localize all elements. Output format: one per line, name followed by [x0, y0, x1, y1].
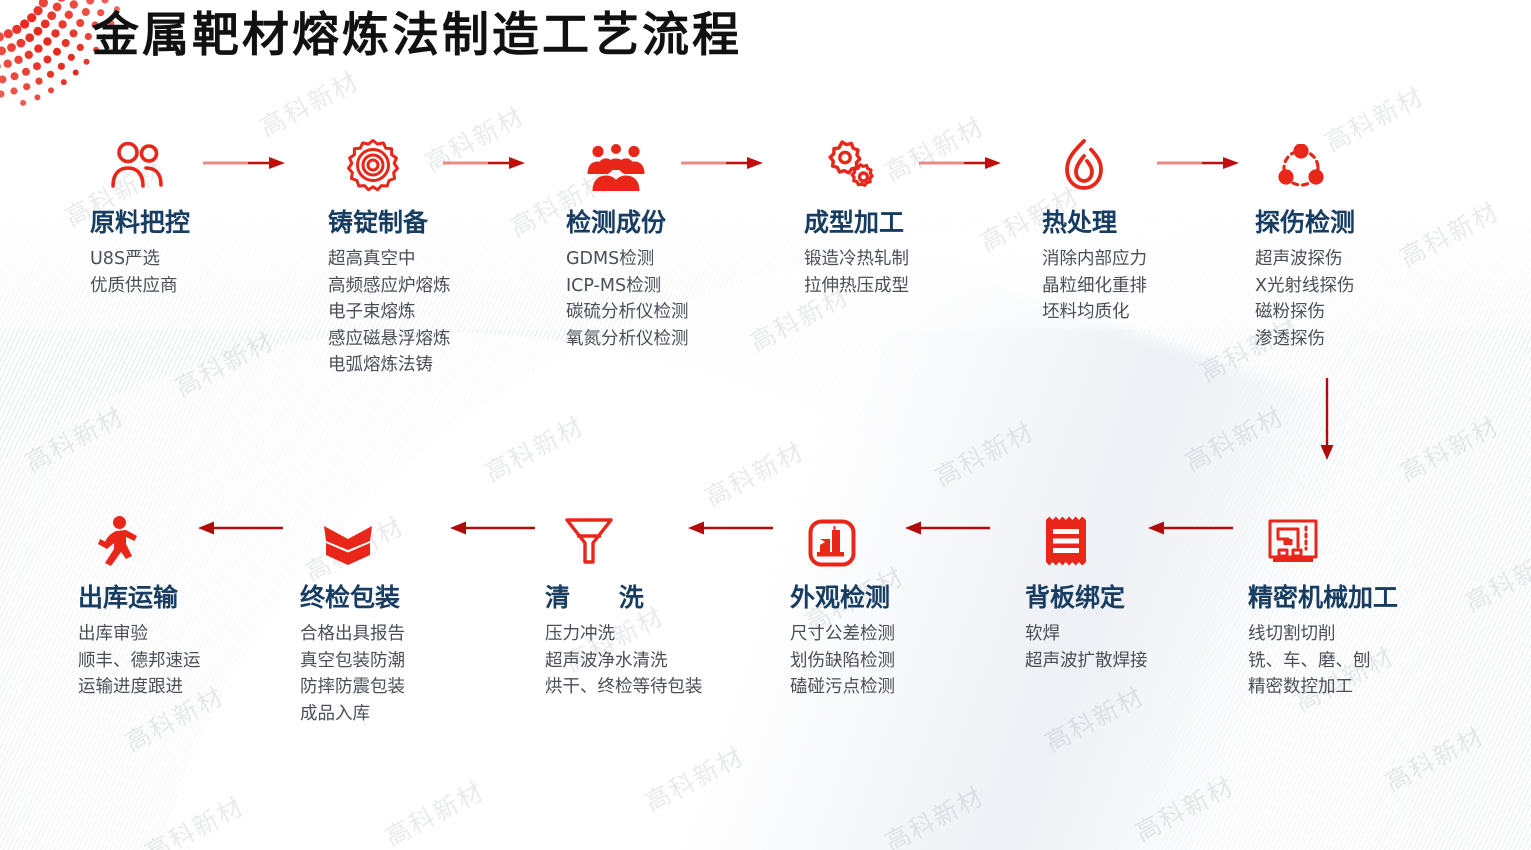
step-detail-line: 超高真空中 — [328, 246, 543, 273]
step-detail-line: 坯料均质化 — [1042, 299, 1257, 326]
step-detail-line: 电子束熔炼 — [328, 299, 543, 326]
step-detail-list: 合格出具报告真空包装防潮防摔防震包装成品入库 — [300, 621, 515, 727]
step-detail-line: ICP-MS检测 — [566, 273, 781, 300]
header: 金属靶材熔炼法制造工艺流程 — [92, 2, 742, 70]
step-detail-line: 超声波净水清洗 — [545, 648, 760, 675]
step-detail-line: X光射线探伤 — [1255, 273, 1470, 300]
step-detail-line: 运输进度跟进 — [78, 674, 293, 701]
step-title: 成型加工 — [804, 203, 1019, 239]
step-detail-line: 优质供应商 — [90, 273, 305, 300]
flow-arrow-left-2 — [450, 520, 535, 536]
step-detail-list: 尺寸公差检测划伤缺陷检测磕碰污点检测 — [790, 621, 1005, 701]
open-box-icon — [300, 505, 515, 567]
step-detail-line: 磁粉探伤 — [1255, 299, 1470, 326]
step-detail-line: 超声波扩散焊接 — [1025, 648, 1240, 675]
step-title: 铸锭制备 — [328, 203, 543, 239]
cnc-machine-icon — [1248, 505, 1498, 567]
step-detail-list: 锻造冷热轧制拉伸热压成型 — [804, 246, 1019, 299]
step-detail-list: 出库审验顺丰、德邦速运运输进度跟进 — [78, 621, 293, 701]
step-title: 原料把控 — [90, 203, 305, 239]
step-detail-line: 尺寸公差检测 — [790, 621, 1005, 648]
step-detail-list: 压力冲洗超声波净水清洗烘干、终检等待包装 — [545, 621, 760, 701]
step-title: 背板绑定 — [1025, 578, 1240, 614]
step-detail-line: 线切割切削 — [1248, 621, 1498, 648]
step-title: 清 洗 — [545, 578, 760, 614]
flow-arrow-right-1 — [203, 155, 285, 171]
step-detail-line: 顺丰、德邦速运 — [78, 648, 293, 675]
step-detail-line: GDMS检测 — [566, 246, 781, 273]
flow-arrow-left-5 — [1148, 520, 1233, 536]
step-detail-line: 合格出具报告 — [300, 621, 515, 648]
step-detail-list: U8S严选优质供应商 — [90, 246, 305, 299]
step-title: 检测成份 — [566, 203, 781, 239]
flow-arrow-right-2 — [443, 155, 525, 171]
step-detail-line: 软焊 — [1025, 621, 1240, 648]
step-detail-line: 真空包装防潮 — [300, 648, 515, 675]
funnel-icon — [545, 505, 760, 567]
step-detail-line: 高频感应炉熔炼 — [328, 273, 543, 300]
step-detail-line: 压力冲洗 — [545, 621, 760, 648]
step-detail-list: 线切割切削铣、车、磨、刨精密数控加工 — [1248, 621, 1498, 701]
step-detail-line: 成品入库 — [300, 701, 515, 728]
factory-inspect-icon — [790, 505, 1005, 567]
step-detail-line: 精密数控加工 — [1248, 674, 1498, 701]
process-step-11: 终检包装合格出具报告真空包装防潮防摔防震包装成品入库 — [300, 505, 515, 727]
step-detail-list: 消除内部应力晶粒细化重排坯料均质化 — [1042, 246, 1257, 326]
step-title: 出库运输 — [78, 578, 293, 614]
step-detail-line: 锻造冷热轧制 — [804, 246, 1019, 273]
step-title: 热处理 — [1042, 203, 1257, 239]
step-detail-line: 铣、车、磨、刨 — [1248, 648, 1498, 675]
running-person-icon — [78, 505, 293, 567]
flow-arrow-right-3 — [681, 155, 763, 171]
three-node-network-icon — [1255, 130, 1470, 192]
step-title: 终检包装 — [300, 578, 515, 614]
step-detail-line: 碳硫分析仪检测 — [566, 299, 781, 326]
step-detail-line: 防摔防震包装 — [300, 674, 515, 701]
step-detail-line: 烘干、终检等待包装 — [545, 674, 760, 701]
step-detail-line: 消除内部应力 — [1042, 246, 1257, 273]
step-title: 外观检测 — [790, 578, 1005, 614]
step-detail-line: 拉伸热压成型 — [804, 273, 1019, 300]
step-detail-list: 软焊超声波扩散焊接 — [1025, 621, 1240, 674]
step-detail-line: 氧氮分析仪检测 — [566, 326, 781, 353]
step-detail-list: GDMS检测ICP-MS检测碳硫分析仪检测氧氮分析仪检测 — [566, 246, 781, 352]
page-title: 金属靶材熔炼法制造工艺流程 — [92, 2, 742, 70]
flow-arrow-left-3 — [688, 520, 773, 536]
step-detail-line: 磕碰污点检测 — [790, 674, 1005, 701]
step-detail-line: 感应磁悬浮熔炼 — [328, 326, 543, 353]
process-flow-diagram: 原料把控U8S严选优质供应商 铸锭制备超高真空中高频感应炉熔炼电子束熔炼感应磁悬… — [0, 0, 1531, 850]
step-detail-line: 渗透探伤 — [1255, 326, 1470, 353]
step-title: 探伤检测 — [1255, 203, 1470, 239]
flow-arrow-right-5 — [1157, 155, 1239, 171]
flow-arrow-down-connector — [1319, 378, 1335, 465]
step-detail-list: 超高真空中高频感应炉熔炼电子束熔炼感应磁悬浮熔炼电弧熔炼法铸 — [328, 246, 543, 379]
step-detail-line: 晶粒细化重排 — [1042, 273, 1257, 300]
bonding-plate-icon — [1025, 505, 1240, 567]
step-detail-list: 超声波探伤X光射线探伤磁粉探伤渗透探伤 — [1255, 246, 1470, 352]
step-title: 精密机械加工 — [1248, 578, 1498, 614]
step-detail-line: 超声波探伤 — [1255, 246, 1470, 273]
step-detail-line: U8S严选 — [90, 246, 305, 273]
step-detail-line: 出库审验 — [78, 621, 293, 648]
flow-arrow-right-4 — [919, 155, 1001, 171]
process-step-6: 探伤检测超声波探伤X光射线探伤磁粉探伤渗透探伤 — [1255, 130, 1470, 352]
step-detail-line: 电弧熔炼法铸 — [328, 352, 543, 379]
flow-arrow-left-4 — [905, 520, 990, 536]
step-detail-line: 划伤缺陷检测 — [790, 648, 1005, 675]
flow-arrow-left-1 — [198, 520, 283, 536]
process-step-7: 精密机械加工线切割切削铣、车、磨、刨精密数控加工 — [1248, 505, 1498, 701]
